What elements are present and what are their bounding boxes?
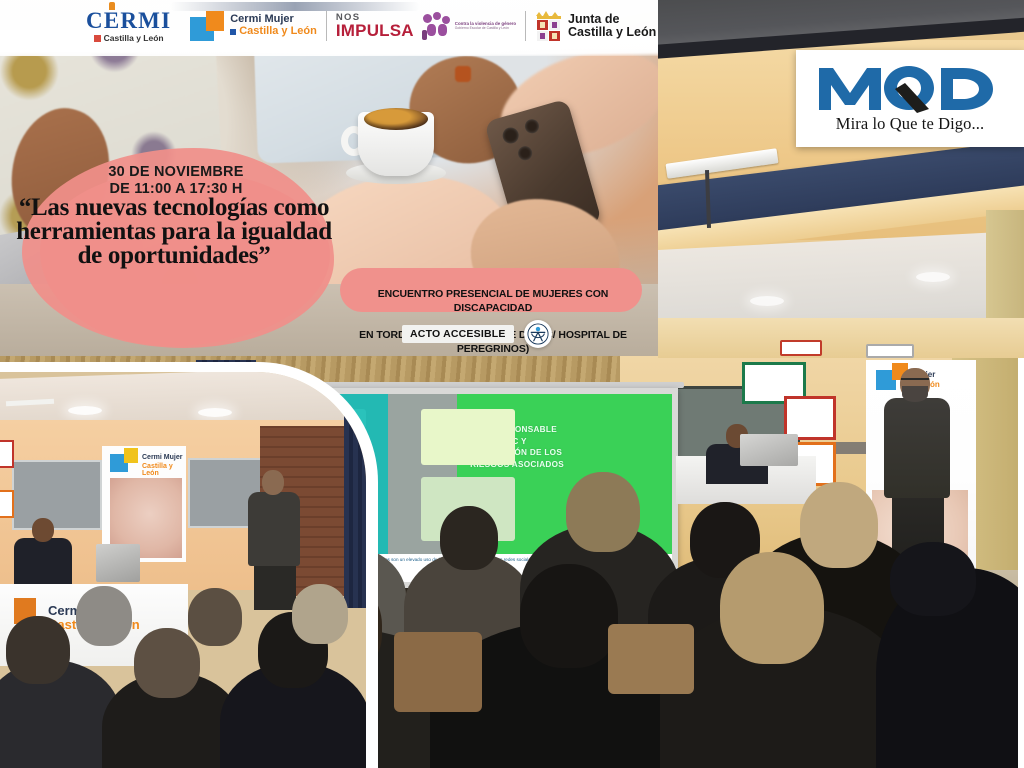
chair-back — [608, 624, 694, 694]
logo-divider — [326, 11, 327, 41]
junta-line2: Castilla y León — [568, 26, 656, 39]
right-edge-margin — [1018, 356, 1024, 768]
ceiling-downlight — [750, 296, 784, 306]
ceiling-downlight — [916, 272, 950, 282]
mqd-tagline: Mira lo Que te Digo... — [836, 114, 984, 134]
camera-lens — [516, 145, 533, 162]
accessible-label: ACTO ACCESIBLE — [402, 325, 514, 343]
cermi-subtitle: Castilla y León — [94, 33, 164, 43]
audience-member-front — [890, 542, 976, 616]
room-seated-speaker-body — [14, 538, 72, 586]
photo-conference-room: Cermi Mujer Castilla y León Cermi Mujer … — [0, 372, 366, 768]
room-presenter-legs — [254, 564, 296, 610]
wall-notice-red — [0, 440, 14, 468]
standing-presenter-glasses — [901, 378, 929, 383]
wall-notice — [866, 344, 914, 358]
logo-cermi-mujer: Cermi Mujer Castilla y León — [190, 11, 317, 41]
audience-member — [440, 506, 498, 570]
ring — [455, 66, 471, 82]
room-audience-member — [134, 628, 200, 698]
junta-coat-of-arms — [535, 10, 563, 42]
room-audience-member — [6, 616, 70, 684]
room-audience-member — [76, 586, 132, 646]
room-laptop — [96, 544, 140, 582]
logo-cermi: CERMI Castilla y León — [86, 9, 171, 43]
coffee-surface — [364, 108, 428, 130]
camera-lens — [501, 126, 521, 146]
ceiling-downlight — [198, 408, 232, 417]
audience-member-front — [520, 564, 618, 668]
room-presenter-body — [248, 492, 300, 566]
room-seated-speaker-head — [32, 518, 54, 542]
rollup-line2: Castilla y León — [142, 463, 186, 477]
logo-junta-castilla-leon: Junta de Castilla y León — [535, 10, 656, 42]
logo-nos-impulsa: NOS IMPULSA — [336, 13, 414, 40]
accessibility-row: ACTO ACCESIBLE — [402, 320, 552, 348]
cermi-red-square — [94, 35, 101, 42]
audience-member — [566, 472, 640, 552]
logo-violencia-genero: Contra la violencia de género Gobierno E… — [421, 12, 516, 40]
nos-impulsa-line2: IMPULSA — [336, 22, 414, 39]
room-presenter-head — [262, 470, 284, 495]
audience-member-front — [720, 552, 824, 664]
purple-figures-icon — [421, 12, 451, 40]
wall-notice — [780, 340, 822, 356]
standing-presenter-body — [884, 398, 950, 498]
room-curtain — [344, 408, 366, 608]
rollup-line1: Cermi Mujer — [142, 454, 182, 461]
blue-square — [230, 29, 236, 35]
standing-presenter-beard — [902, 386, 928, 402]
whiteboard-left — [12, 460, 102, 530]
wall-notice-orange — [0, 490, 14, 518]
mqd-wordmark — [817, 63, 1003, 113]
speaker-laptop — [740, 434, 798, 466]
cermi-mujer-line2: Castilla y León — [230, 26, 317, 38]
rollup-yellow-square — [124, 448, 138, 463]
vaw-line2: Gobierno Escolar de Castilla y León — [455, 27, 516, 31]
ceiling-downlight — [68, 406, 102, 415]
orange-face-square — [206, 11, 224, 31]
room-audience-member — [292, 584, 348, 644]
chair-back — [394, 632, 482, 712]
event-poster: CERMI Castilla y León Cermi Mujer — [0, 0, 658, 356]
ceiling-bottom-wall — [658, 318, 1024, 358]
room-audience-member — [188, 588, 242, 646]
audience-member — [800, 482, 878, 568]
cermi-wordmark: CERMI — [86, 9, 171, 32]
cermi-mujer-icon — [190, 11, 224, 41]
slide-image-top — [421, 409, 516, 465]
accessibility-icon — [524, 320, 552, 348]
venue-line1: ENCUENTRO PRESENCIAL DE MUJERES CON DISC… — [378, 289, 609, 314]
mqd-logo-plaque: Mira lo Que te Digo... — [796, 50, 1024, 147]
camera-lens — [523, 118, 540, 135]
screenshot-collage: USO RESPONSABLE DE LAS TIC Y PREVENCIÓN … — [0, 0, 1024, 768]
logo-divider — [525, 11, 526, 41]
poster-title: “Las nuevas tecnologías como herramienta… — [16, 196, 332, 268]
sponsor-logo-row: CERMI Castilla y León Cermi Mujer — [0, 2, 658, 50]
